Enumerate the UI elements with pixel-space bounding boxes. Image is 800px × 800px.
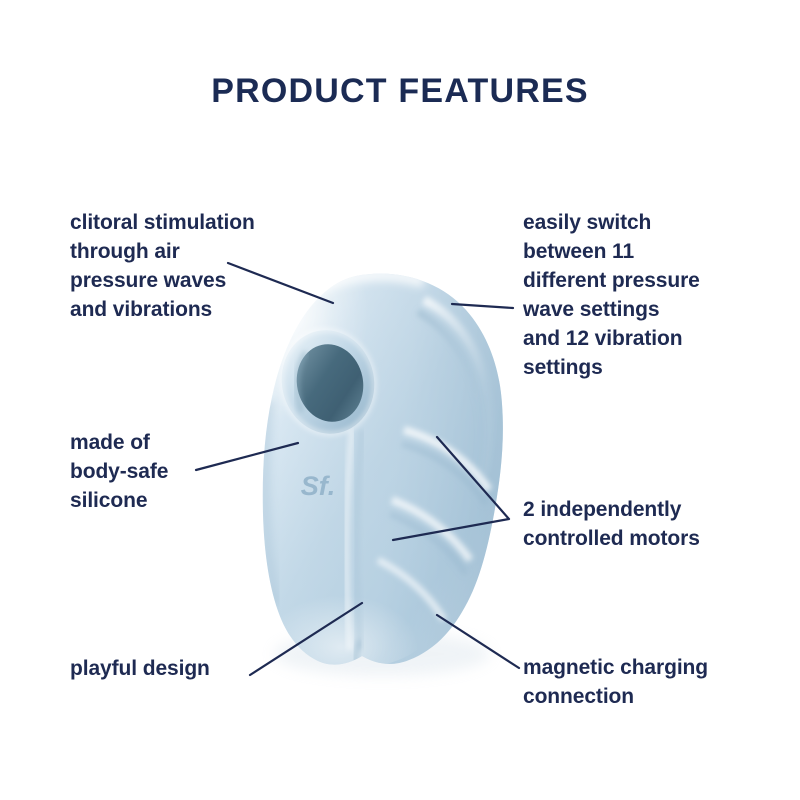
leader-line-charging bbox=[437, 615, 519, 668]
leader-line-playful bbox=[250, 603, 362, 675]
leader-line-settings bbox=[452, 304, 513, 308]
leader-lines-layer bbox=[0, 0, 800, 800]
leader-line-clitoral bbox=[228, 263, 333, 303]
leader-line-motors bbox=[393, 437, 509, 540]
product-features-infographic: PRODUCT FEATURES bbox=[0, 0, 800, 800]
leader-line-silicone bbox=[196, 443, 298, 470]
